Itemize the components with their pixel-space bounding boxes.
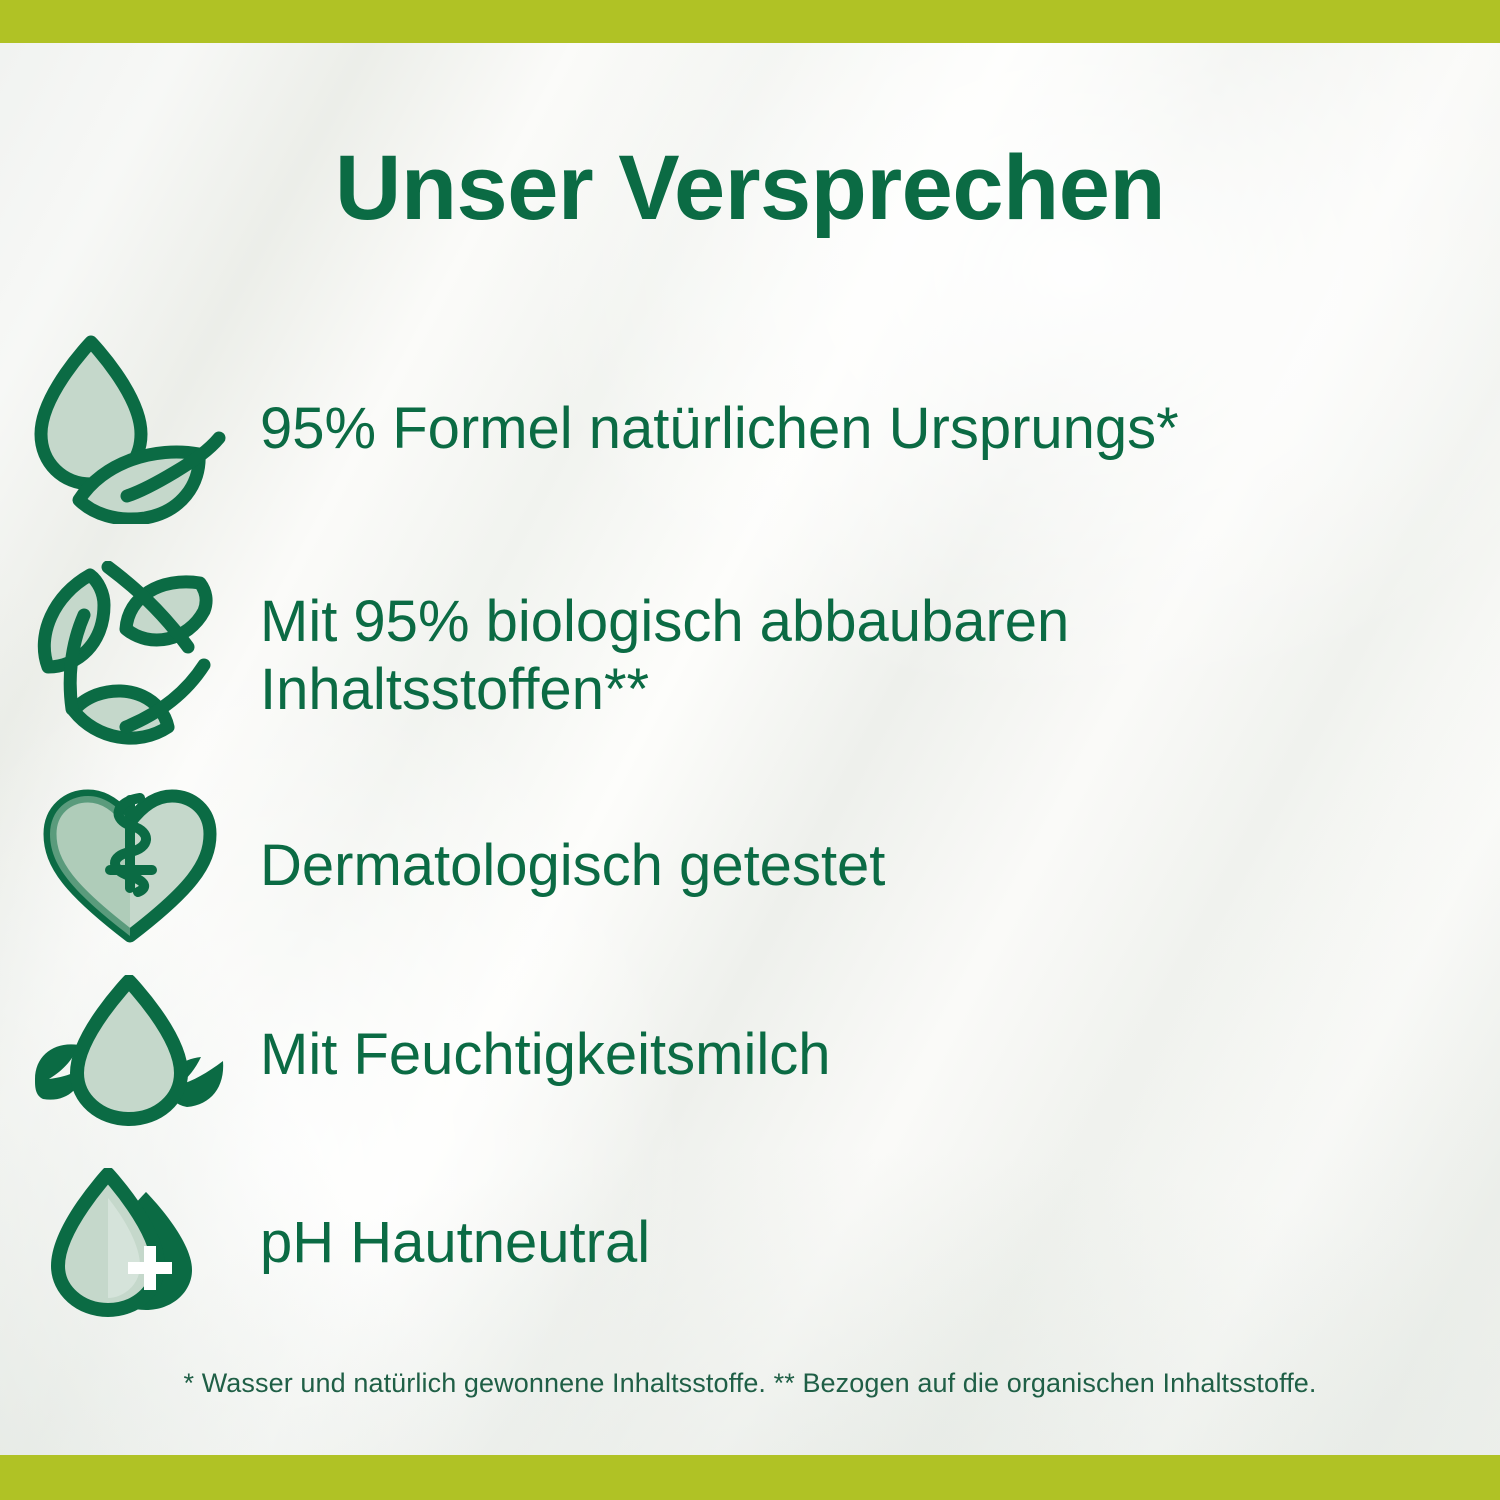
bottom-brand-bar	[0, 1455, 1500, 1500]
claim-text: Dermatologisch getestet	[260, 832, 1500, 900]
droplet-leaf-icon	[0, 318, 260, 540]
claim-text: Mit Feuchtigkeitsmilch	[260, 1021, 1500, 1089]
page-title: Unser Versprechen	[0, 142, 1500, 234]
heart-caduceus-icon	[0, 772, 260, 960]
droplet-two-leaves-icon	[0, 960, 260, 1150]
claim-text: Mit 95% biologisch abbaubaren Inhaltssto…	[260, 588, 1500, 725]
droplet-plus-icon	[0, 1150, 260, 1336]
poster-content: Unser Versprechen 95% Formel natürlichen…	[0, 0, 1500, 1500]
three-leaves-recycle-icon	[0, 540, 260, 772]
claim-text: 95% Formel natürlichen Ursprungs*	[260, 395, 1500, 463]
top-brand-bar	[0, 0, 1500, 43]
claim-item: pH Hautneutral	[0, 1150, 1500, 1336]
claim-item: Mit Feuchtigkeitsmilch	[0, 960, 1500, 1150]
claim-item: Dermatologisch getestet	[0, 772, 1500, 960]
promo-poster: Unser Versprechen 95% Formel natürlichen…	[0, 0, 1500, 1500]
claim-item: 95% Formel natürlichen Ursprungs*	[0, 318, 1500, 540]
footnote-text: * Wasser und natürlich gewonnene Inhalts…	[0, 1368, 1500, 1399]
claims-list: 95% Formel natürlichen Ursprungs*	[0, 318, 1500, 1336]
claim-text: pH Hautneutral	[260, 1209, 1500, 1277]
claim-item: Mit 95% biologisch abbaubaren Inhaltssto…	[0, 540, 1500, 772]
